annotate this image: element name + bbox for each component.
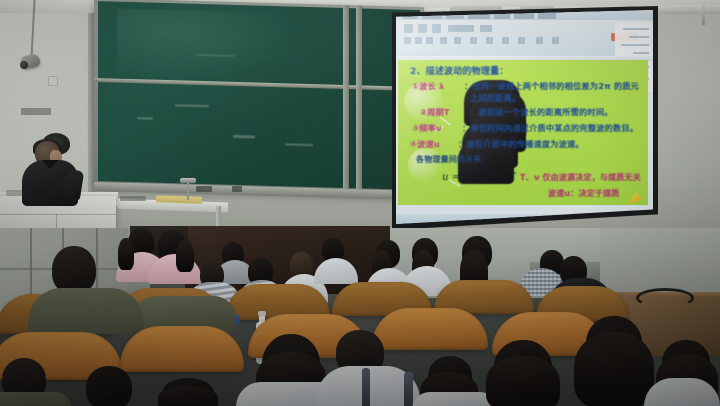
ribbon-icon[interactable] xyxy=(552,37,559,44)
slide-equation: u = λν = λ / T xyxy=(442,172,516,183)
ribbon-icon[interactable] xyxy=(470,37,477,44)
panel-line xyxy=(621,44,649,46)
slide-key-1: ①波长 λ xyxy=(412,80,444,92)
student-head xyxy=(86,366,132,406)
coiled-cable xyxy=(636,288,694,308)
wall-socket xyxy=(48,76,58,86)
panel-line xyxy=(623,28,649,30)
ribbon-icon[interactable] xyxy=(502,37,509,44)
student-hair xyxy=(118,238,134,270)
student-torso xyxy=(0,392,72,406)
board-vertical-divider xyxy=(343,5,349,195)
camera-lens-icon xyxy=(20,61,28,69)
slide-note-1: T、ν 仅由波源决定，与媒质无关 xyxy=(520,172,641,183)
student-hair xyxy=(486,356,560,406)
ribbon-icon[interactable] xyxy=(432,24,441,33)
ribbon-icon[interactable] xyxy=(518,37,525,44)
slide-key-2: ②周期T xyxy=(420,106,450,118)
slide-content: 2、描述波动的物理量： ①波长 λ ：在同一波线上两个相邻的相位差为2π 的质元… xyxy=(398,60,648,205)
seat-back xyxy=(120,326,244,372)
student-head xyxy=(52,246,96,294)
ribbon-icon[interactable] xyxy=(454,37,461,44)
student-hair xyxy=(176,240,194,272)
eraser xyxy=(196,186,212,192)
rail-rod xyxy=(702,5,705,25)
seat-back xyxy=(372,308,488,350)
slide-decor-arrow-icon xyxy=(628,192,642,203)
lectern-seam xyxy=(0,214,116,215)
panel-line xyxy=(629,36,649,38)
blackboard-surface xyxy=(98,1,420,190)
classroom-photo: 2、描述波动的物理量： ①波长 λ ：在同一波线上两个相邻的相位差为2π 的质元… xyxy=(0,0,720,406)
ribbon-icon[interactable] xyxy=(418,24,427,33)
chalk-smudge xyxy=(137,117,153,119)
slide-key-4: ④波速u xyxy=(410,138,440,150)
microphone-icon xyxy=(180,178,196,183)
board-vertical-divider xyxy=(356,5,362,195)
slide-key-3: ③频率ν xyxy=(412,122,442,134)
ribbon-icon[interactable] xyxy=(426,37,433,44)
student-torso xyxy=(28,288,144,334)
blackboard xyxy=(94,0,424,197)
desk-object xyxy=(120,196,146,201)
microphone-stand xyxy=(187,182,189,200)
wall-sign xyxy=(21,108,51,115)
bottle-cap xyxy=(258,311,266,316)
chalk-piece xyxy=(232,186,242,192)
student-hair xyxy=(158,386,218,406)
ribbon-icon[interactable] xyxy=(404,37,411,44)
ribbon-icon[interactable] xyxy=(415,37,422,44)
slide-relation-label: 各物理量间的关系： xyxy=(416,154,490,165)
ribbon-icon[interactable] xyxy=(486,37,493,44)
ribbon-size-box[interactable] xyxy=(480,25,492,32)
projector-screen[interactable]: 2、描述波动的物理量： ①波长 λ ：在同一波线上两个相邻的相位差为2π 的质元… xyxy=(396,10,653,224)
slide-note-2: 波速u：决定于媒质 xyxy=(548,188,620,199)
slide-title: 2、描述波动的物理量： xyxy=(410,64,508,77)
backpack-strap xyxy=(362,368,370,406)
backpack-strap xyxy=(404,372,413,406)
ribbon-icon[interactable] xyxy=(536,37,543,44)
chalk-smudge xyxy=(175,104,209,107)
board-glare xyxy=(117,9,294,82)
ribbon-icon[interactable] xyxy=(404,24,413,33)
chalk-smudge xyxy=(233,134,255,138)
ribbon-font-box[interactable] xyxy=(448,25,474,32)
chalk-smudge xyxy=(285,143,313,146)
presentation-app-chrome xyxy=(396,10,653,56)
ribbon-icon[interactable] xyxy=(440,37,447,44)
student-hair xyxy=(574,332,654,406)
panel-line xyxy=(633,52,649,54)
